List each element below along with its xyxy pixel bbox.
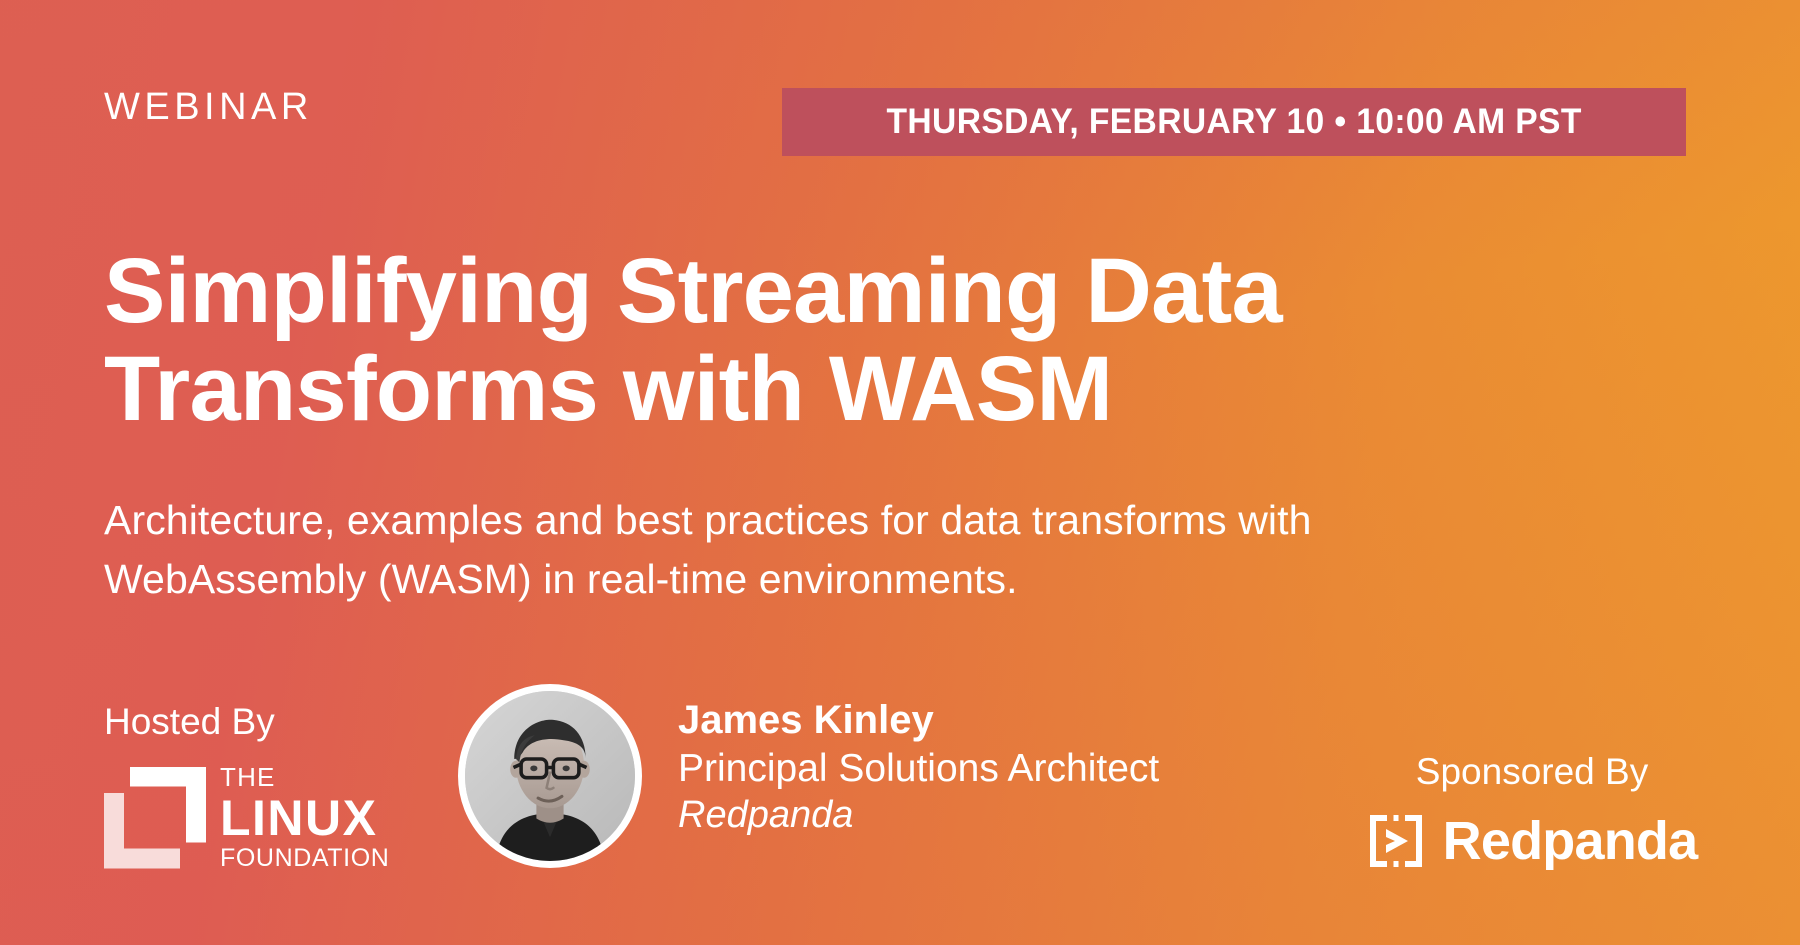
- lf-mark-outer-shape: [130, 767, 206, 843]
- redpanda-bracket-play-icon: [1367, 812, 1425, 870]
- lf-word-the: THE: [220, 764, 389, 790]
- hosted-by-label: Hosted By: [104, 703, 389, 740]
- lf-mark-inner-shape: [104, 793, 180, 869]
- title-line-1: Simplifying Streaming Data: [104, 242, 1404, 340]
- avatar: [458, 684, 642, 868]
- subtitle-line-2: WebAssembly (WASM) in real-time environm…: [104, 550, 1524, 609]
- sponsored-by-block: Sponsored By Redpanda: [1362, 753, 1702, 870]
- lf-word-linux: LINUX: [220, 793, 389, 843]
- sponsored-by-label: Sponsored By: [1362, 753, 1702, 790]
- speaker-info: James Kinley Principal Solutions Archite…: [678, 684, 1159, 837]
- redpanda-wordmark: Redpanda: [1443, 814, 1698, 868]
- lf-word-foundation: FOUNDATION: [220, 846, 389, 871]
- speaker-block: James Kinley Principal Solutions Archite…: [458, 684, 1159, 868]
- speaker-organization: Redpanda: [678, 794, 1159, 837]
- linux-foundation-logo: THE LINUX FOUNDATION: [104, 764, 389, 871]
- speaker-role: Principal Solutions Architect: [678, 747, 1159, 791]
- redpanda-logo: Redpanda: [1362, 812, 1702, 870]
- linux-foundation-mark-icon: [104, 767, 206, 869]
- page-title: Simplifying Streaming Data Transforms wi…: [104, 242, 1404, 439]
- speaker-portrait-icon: [465, 691, 635, 861]
- linux-foundation-wordmark: THE LINUX FOUNDATION: [220, 764, 389, 871]
- eyebrow-label: WEBINAR: [104, 88, 313, 126]
- subtitle-line-1: Architecture, examples and best practice…: [104, 491, 1524, 550]
- title-line-2: Transforms with WASM: [104, 340, 1404, 438]
- speaker-name: James Kinley: [678, 698, 1159, 744]
- redpanda-mark-svg: [1367, 812, 1425, 870]
- date-banner: THURSDAY, FEBRUARY 10 • 10:00 AM PST: [782, 88, 1686, 156]
- page-subtitle: Architecture, examples and best practice…: [104, 491, 1524, 609]
- hosted-by-block: Hosted By THE LINUX FOUNDATION: [104, 703, 389, 871]
- date-banner-text: THURSDAY, FEBRUARY 10 • 10:00 AM PST: [886, 102, 1581, 142]
- webinar-promo-banner: WEBINAR THURSDAY, FEBRUARY 10 • 10:00 AM…: [0, 0, 1800, 945]
